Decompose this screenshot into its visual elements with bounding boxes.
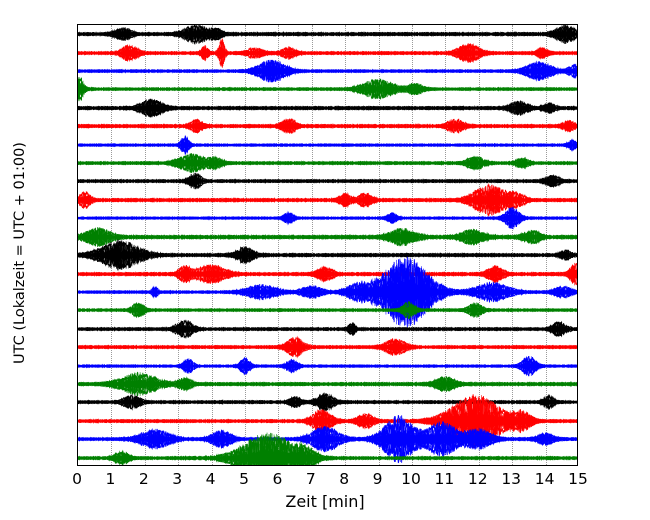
x-tick-mark (379, 465, 380, 466)
y-tick-mark (77, 108, 79, 109)
x-tick-label: 14 (535, 470, 555, 488)
x-tick-label: 3 (172, 470, 182, 488)
x-tick-mark (178, 465, 179, 466)
x-tick-mark (245, 465, 246, 466)
x-tick-label: 1 (105, 470, 115, 488)
plot-area (77, 24, 578, 466)
x-tick-label: 2 (139, 470, 149, 488)
x-tick-label: 11 (435, 470, 455, 488)
x-tick-mark (412, 465, 413, 466)
y-tick-mark (77, 255, 79, 256)
y-tick-mark (77, 329, 79, 330)
x-tick-label: 8 (339, 470, 349, 488)
seismogram-trace (78, 401, 578, 466)
x-axis-label: Zeit [min] (0, 492, 650, 511)
x-tick-label: 0 (72, 470, 82, 488)
trace-layer (78, 25, 577, 465)
seismogram-figure: UTC (Lokalzeit = UTC + 01:00) Zeit [min]… (0, 0, 650, 520)
x-tick-label: 12 (468, 470, 488, 488)
x-tick-label: 15 (568, 470, 588, 488)
y-tick-mark (77, 403, 79, 404)
x-tick-mark (479, 465, 480, 466)
x-tick-label: 4 (206, 470, 216, 488)
y-tick-mark (77, 182, 79, 183)
x-tick-label: 9 (373, 470, 383, 488)
x-tick-mark (512, 465, 513, 466)
x-tick-mark (445, 465, 446, 466)
x-tick-label: 6 (272, 470, 282, 488)
x-tick-label: 10 (401, 470, 421, 488)
x-tick-mark (345, 465, 346, 466)
x-tick-mark (312, 465, 313, 466)
x-tick-mark (111, 465, 112, 466)
y-axis-label: UTC (Lokalzeit = UTC + 01:00) (12, 83, 28, 423)
x-tick-mark (278, 465, 279, 466)
x-tick-mark (212, 465, 213, 466)
x-tick-label: 5 (239, 470, 249, 488)
x-tick-label: 13 (501, 470, 521, 488)
y-tick-mark (77, 34, 79, 35)
x-tick-mark (145, 465, 146, 466)
x-tick-mark (78, 465, 79, 466)
x-tick-label: 7 (306, 470, 316, 488)
x-tick-mark (546, 465, 547, 466)
